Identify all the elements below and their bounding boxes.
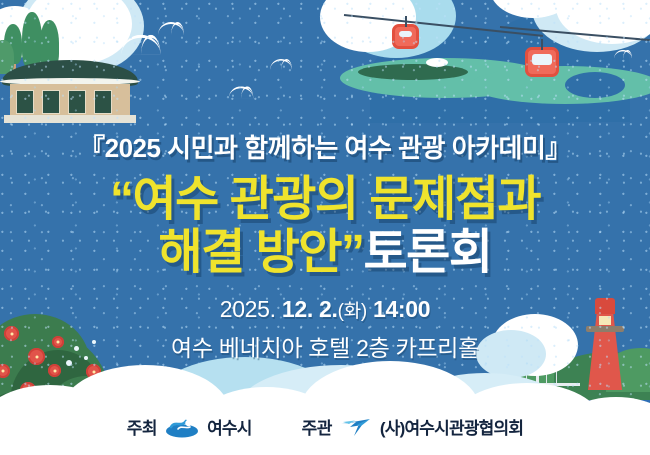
event-poster: 『2025 시민과 함께하는 여수 관광 아카데미』 “여수 관광의 문제점과 … [0, 0, 650, 455]
title-quote-close: ” [341, 226, 364, 279]
title-discussion-text: 토론회 [364, 226, 492, 279]
organizer-name: (사)여수시관광협의회 [380, 414, 523, 439]
footer-organization-row: 주최 여수시 주관 (사)여수시관광협의회 [0, 414, 650, 439]
event-datetime: 2025. 12. 2.(화) 14:00 [0, 296, 650, 323]
poster-subtitle: 『2025 시민과 함께하는 여수 관광 아카데미』 [0, 128, 650, 165]
poster-title-line-2: 해결 방안”토론회 [0, 229, 650, 277]
host-label: 주최 [127, 414, 157, 439]
event-venue: 여수 베네치아 호텔 2층 카프리홀 [0, 329, 650, 363]
seagull-icon [614, 50, 632, 59]
seagull-icon [229, 86, 254, 98]
cable-car-right [525, 47, 559, 77]
event-weekday: (화) [338, 301, 367, 322]
title-line-2-text: 해결 방안 [159, 226, 341, 279]
poster-title-line-1: “여수 관광의 문제점과 [0, 176, 650, 224]
footer-cloud-band [0, 363, 650, 455]
seagull-icon [270, 59, 292, 70]
hanok-temple-illustration [0, 0, 170, 125]
organizer-label: 주관 [302, 414, 332, 439]
event-month-day: 12. 2. [282, 296, 338, 322]
host-name: 여수시 [207, 414, 252, 439]
seagull-icon [595, 15, 616, 25]
event-year: 2025. [220, 296, 282, 322]
seagull-icon [158, 22, 184, 35]
yeosu-city-logo-icon [165, 416, 199, 438]
title-line-1-text: 여수 관광의 문제점과 [132, 173, 540, 226]
cable-car-left [392, 24, 419, 49]
title-quote-open: “ [110, 173, 133, 226]
yeosu-tourism-council-bird-logo-icon [340, 416, 372, 438]
event-time: 14:00 [373, 296, 430, 322]
